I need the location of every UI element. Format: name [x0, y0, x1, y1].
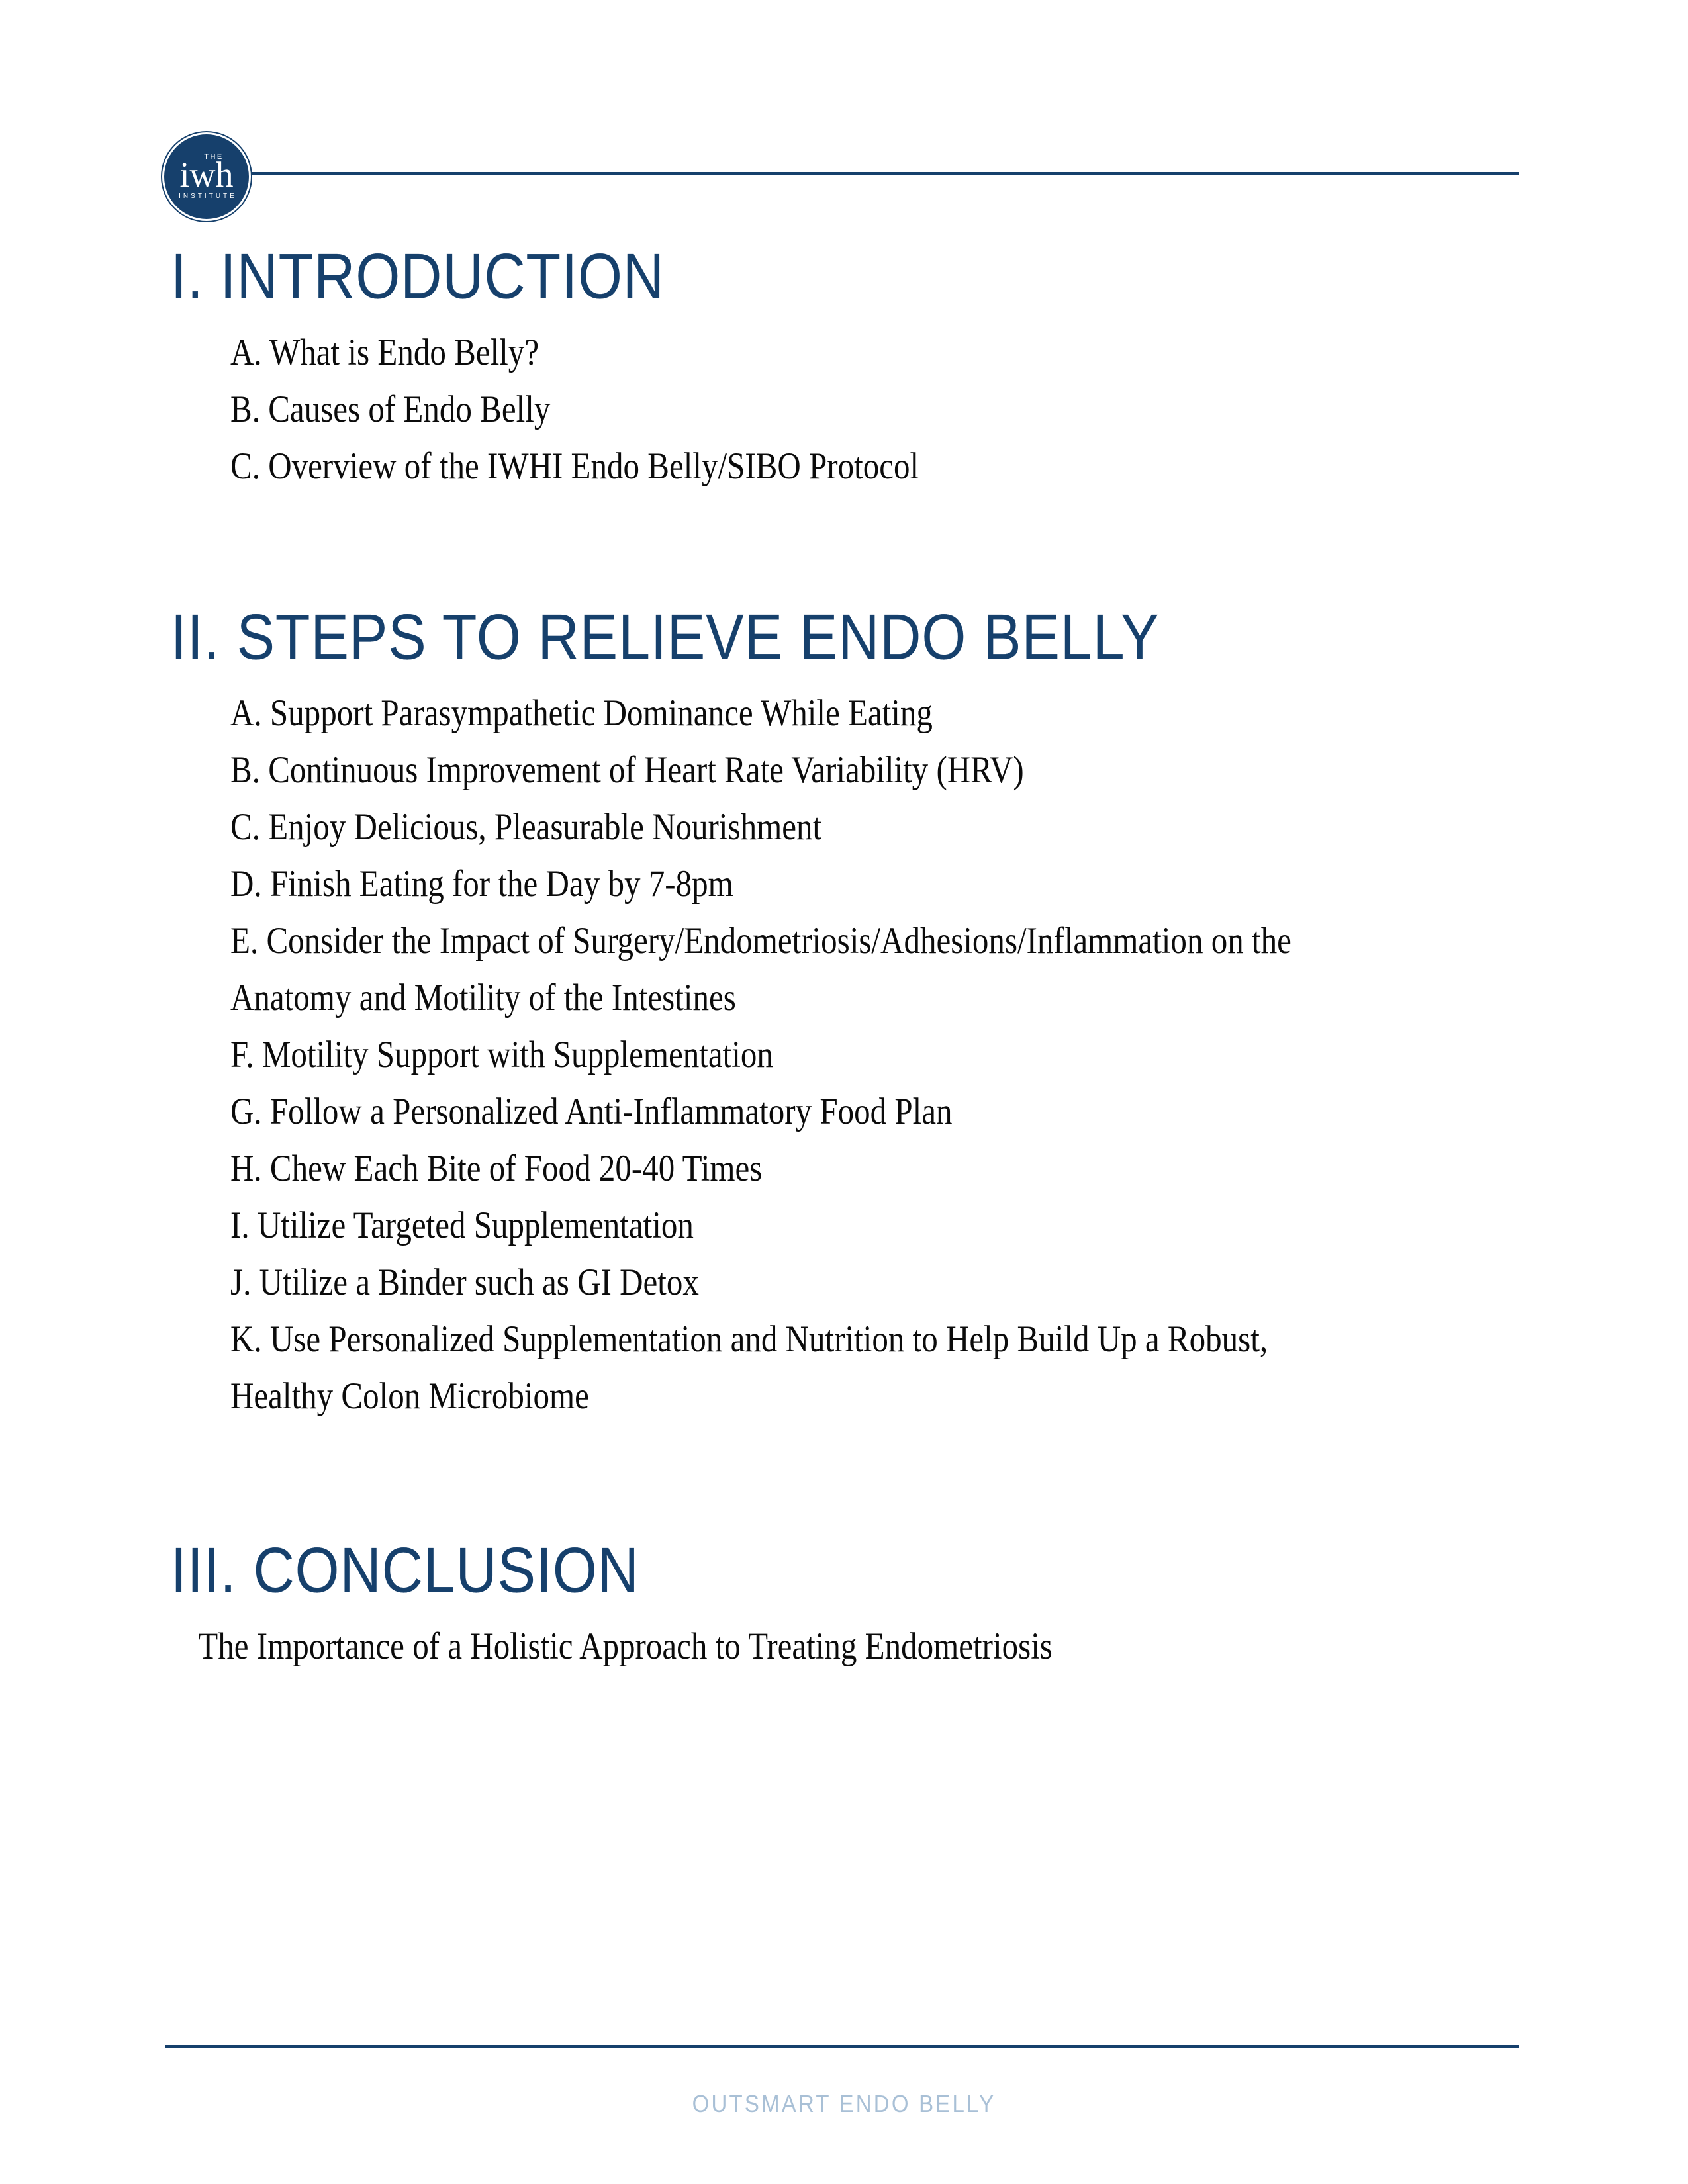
page-header: THE iwh INSTITUTE: [0, 0, 1688, 225]
document-page: THE iwh INSTITUTE I. INTRODUCTION A. Wha…: [0, 0, 1688, 2184]
header-divider-rule: [245, 172, 1519, 175]
section-heading-conclusion: III. CONCLUSION: [0, 1539, 1688, 1602]
section-steps-to-relieve-endo-belly: II. STEPS TO RELIEVE ENDO BELLY A. Suppo…: [0, 606, 1688, 1425]
conclusion-paragraph: The Importance of a Holistic Approach to…: [0, 1618, 1452, 1675]
list-item: J. Utilize a Binder such as GI Detox: [230, 1254, 1353, 1311]
iwh-institute-logo: THE iwh INSTITUTE: [164, 134, 249, 219]
list-item: E. Consider the Impact of Surgery/Endome…: [230, 913, 1353, 1026]
logo-main-text: iwh: [180, 159, 234, 192]
footer-title: OUTSMART ENDO BELLY: [0, 2090, 1688, 2118]
section-list-introduction: A. What is Endo Belly? B. Causes of Endo…: [0, 324, 1688, 495]
section-conclusion: III. CONCLUSION The Importance of a Holi…: [0, 1539, 1688, 1675]
section-list-steps: A. Support Parasympathetic Dominance Whi…: [0, 685, 1688, 1425]
list-item: A. Support Parasympathetic Dominance Whi…: [230, 685, 1353, 742]
list-item: I. Utilize Targeted Supplementation: [230, 1197, 1353, 1254]
list-item: B. Causes of Endo Belly: [230, 381, 1353, 438]
list-item: K. Use Personalized Supplementation and …: [230, 1311, 1353, 1425]
list-item: C. Enjoy Delicious, Pleasurable Nourishm…: [230, 799, 1353, 856]
section-introduction: I. INTRODUCTION A. What is Endo Belly? B…: [0, 245, 1688, 495]
section-heading-introduction: I. INTRODUCTION: [0, 245, 1688, 308]
footer-divider-rule: [165, 2045, 1519, 2048]
section-heading-steps: II. STEPS TO RELIEVE ENDO BELLY: [0, 606, 1688, 669]
list-item: A. What is Endo Belly?: [230, 324, 1353, 381]
list-item: C. Overview of the IWHI Endo Belly/SIBO …: [230, 438, 1353, 495]
list-item: H. Chew Each Bite of Food 20-40 Times: [230, 1140, 1353, 1197]
list-item: F. Motility Support with Supplementation: [230, 1026, 1353, 1083]
list-item: D. Finish Eating for the Day by 7-8pm: [230, 856, 1353, 913]
list-item: G. Follow a Personalized Anti-Inflammato…: [230, 1083, 1353, 1140]
logo-bottom-text: INSTITUTE: [176, 193, 237, 200]
page-footer: OUTSMART ENDO BELLY: [0, 2030, 1688, 2184]
list-item: B. Continuous Improvement of Heart Rate …: [230, 742, 1353, 799]
